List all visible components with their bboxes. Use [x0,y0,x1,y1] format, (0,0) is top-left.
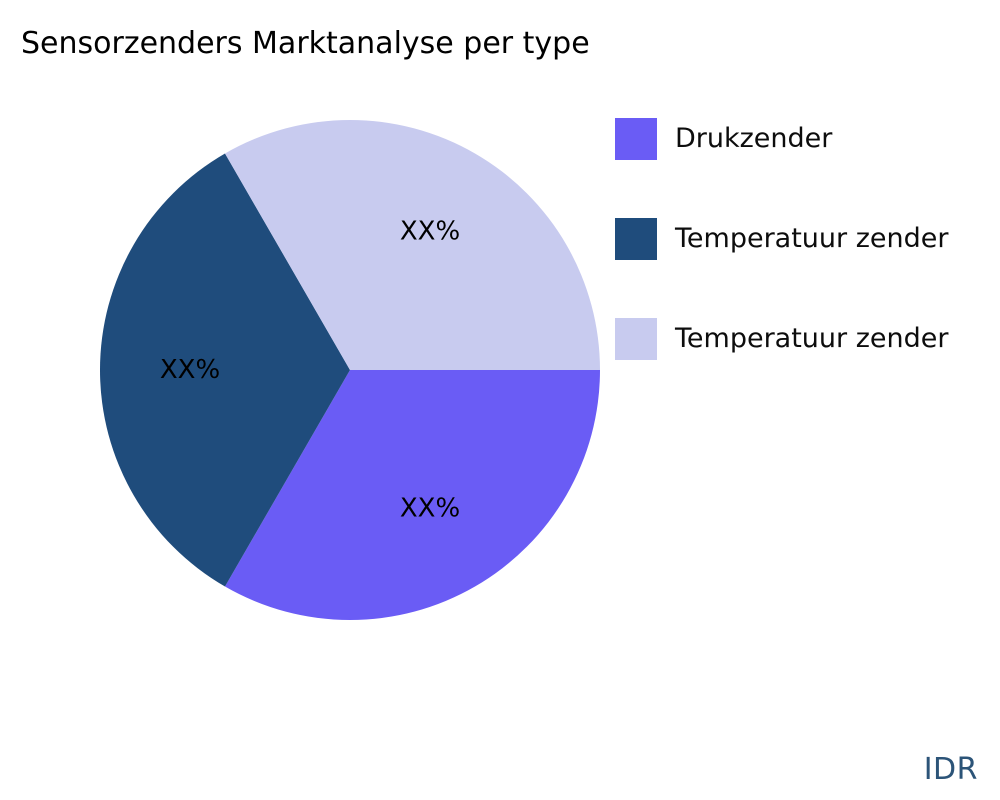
legend-item[interactable]: Drukzender [615,118,1000,160]
legend-item-label: Temperatuur zender [675,318,948,360]
chart-canvas: Sensorzenders Marktanalyse per type XX%X… [0,0,1000,800]
legend-color-swatch [615,318,657,360]
pie-slice-label: XX% [160,355,220,385]
watermark-idr: IDR [924,752,978,788]
chart-title: Sensorzenders Marktanalyse per type [21,24,590,64]
legend-color-swatch [615,118,657,160]
legend-item[interactable]: Temperatuur zender [615,218,1000,260]
legend-item[interactable]: Temperatuur zender [615,318,1000,360]
pie-slice-label: XX% [400,216,460,246]
legend-item-label: Temperatuur zender [675,218,948,260]
legend-color-swatch [615,218,657,260]
pie-chart-plot-area: XX%XX%XX% [100,120,600,620]
chart-legend: DrukzenderTemperatuur zenderTemperatuur … [615,118,1000,360]
pie-slice-label: XX% [400,494,460,524]
pie-chart-svg: XX%XX%XX% [100,120,600,620]
legend-item-label: Drukzender [675,118,832,160]
